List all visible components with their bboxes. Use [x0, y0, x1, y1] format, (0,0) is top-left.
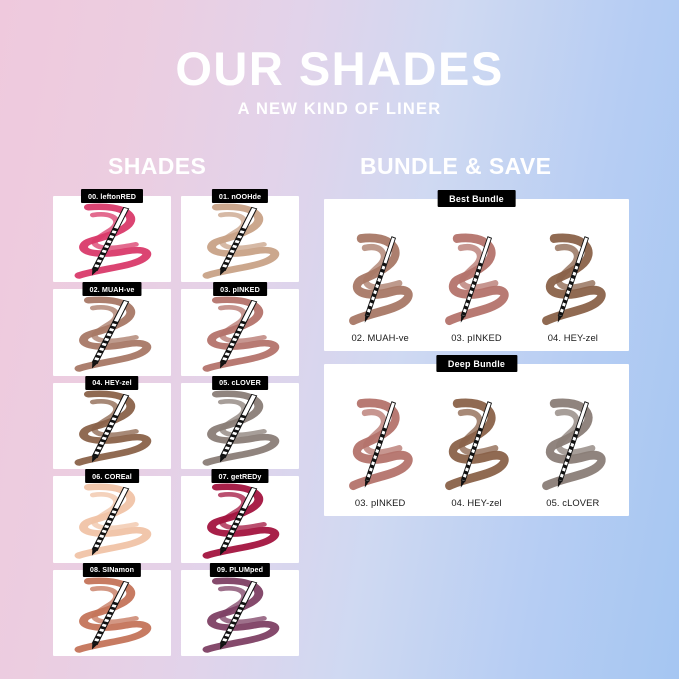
shade-card[interactable]: 00. leftonRED [53, 196, 171, 282]
swatch-stroke-icon [53, 196, 171, 282]
swatch-stroke-icon [53, 289, 171, 375]
bundle-item[interactable]: 04. HEY-zel [525, 211, 621, 343]
shade-name-badge: 08. SINamon [83, 563, 141, 577]
bundle-name-badge: Deep Bundle [436, 355, 517, 372]
bundle-item-label: 02. MUAH-ve [351, 332, 408, 343]
shade-name-badge: 00. leftonRED [81, 189, 143, 203]
bundle-item-label: 03. pINKED [451, 332, 502, 343]
swatch-stroke-icon [332, 225, 428, 329]
swatch-stroke-icon [53, 476, 171, 562]
bundle-item[interactable]: 04. HEY-zel [428, 376, 524, 508]
bundle-panel-best[interactable]: Best Bundle 02. MUAH-ve 03. pINKED [324, 199, 629, 351]
swatch-stroke-icon [428, 390, 524, 494]
page-subtitle: A NEW KIND OF LINER [0, 100, 679, 119]
shade-card[interactable]: 04. HEY-zel [53, 383, 171, 469]
shade-name-badge: 06. COREal [85, 469, 139, 483]
shade-name-badge: 03. pINKED [213, 282, 267, 296]
swatch-stroke-icon [53, 383, 171, 469]
swatch-stroke-icon [525, 225, 621, 329]
poster-root: OUR SHADES A NEW KIND OF LINER SHADES BU… [0, 0, 679, 679]
swatch-stroke-icon [525, 390, 621, 494]
swatch-stroke-icon [332, 390, 428, 494]
shade-card[interactable]: 08. SINamon [53, 570, 171, 656]
bundle-item-label: 04. HEY-zel [451, 497, 501, 508]
shade-name-badge: 05. cLOVER [212, 376, 268, 390]
poster-header: OUR SHADES A NEW KIND OF LINER [0, 44, 679, 119]
shade-card[interactable]: 06. COREal [53, 476, 171, 562]
shade-card[interactable]: 03. pINKED [181, 289, 299, 375]
swatch-stroke-icon [181, 383, 299, 469]
shade-card[interactable]: 01. nOOHde [181, 196, 299, 282]
bundle-item[interactable]: 02. MUAH-ve [332, 211, 428, 343]
bundle-item[interactable]: 03. pINKED [332, 376, 428, 508]
bundle-name-badge: Best Bundle [437, 190, 516, 207]
shade-name-badge: 01. nOOHde [212, 189, 268, 203]
shade-card[interactable]: 02. MUAH-ve [53, 289, 171, 375]
bundle-items-row: 03. pINKED 04. HEY-zel 05. cLOVER [332, 376, 621, 508]
swatch-stroke-icon [181, 476, 299, 562]
bundle-item-label: 03. pINKED [355, 497, 406, 508]
swatch-stroke-icon [181, 289, 299, 375]
swatch-stroke-icon [53, 570, 171, 656]
shade-name-badge: 02. MUAH-ve [82, 282, 141, 296]
shade-card[interactable]: 05. cLOVER [181, 383, 299, 469]
swatch-stroke-icon [181, 196, 299, 282]
shade-name-badge: 04. HEY-zel [85, 376, 138, 390]
page-title: OUR SHADES [0, 44, 679, 94]
bundle-item[interactable]: 05. cLOVER [525, 376, 621, 508]
bundle-item-label: 05. cLOVER [546, 497, 599, 508]
swatch-stroke-icon [181, 570, 299, 656]
swatch-stroke-icon [428, 225, 524, 329]
shade-name-badge: 07. getREDy [211, 469, 268, 483]
bundle-panel-deep[interactable]: Deep Bundle 03. pINKED 04. HEY-zel [324, 364, 629, 516]
shade-name-badge: 09. PLUMped [210, 563, 270, 577]
shade-card[interactable]: 09. PLUMped [181, 570, 299, 656]
shades-section-title: SHADES [108, 153, 206, 180]
bundle-item[interactable]: 03. pINKED [428, 211, 524, 343]
shades-grid: 00. leftonRED 01. nOOHde 02. MUAH-ve [53, 196, 299, 656]
shade-card[interactable]: 07. getREDy [181, 476, 299, 562]
bundle-section-title: BUNDLE & SAVE [360, 153, 551, 180]
bundle-item-label: 04. HEY-zel [548, 332, 598, 343]
bundle-items-row: 02. MUAH-ve 03. pINKED 04. HEY-zel [332, 211, 621, 343]
